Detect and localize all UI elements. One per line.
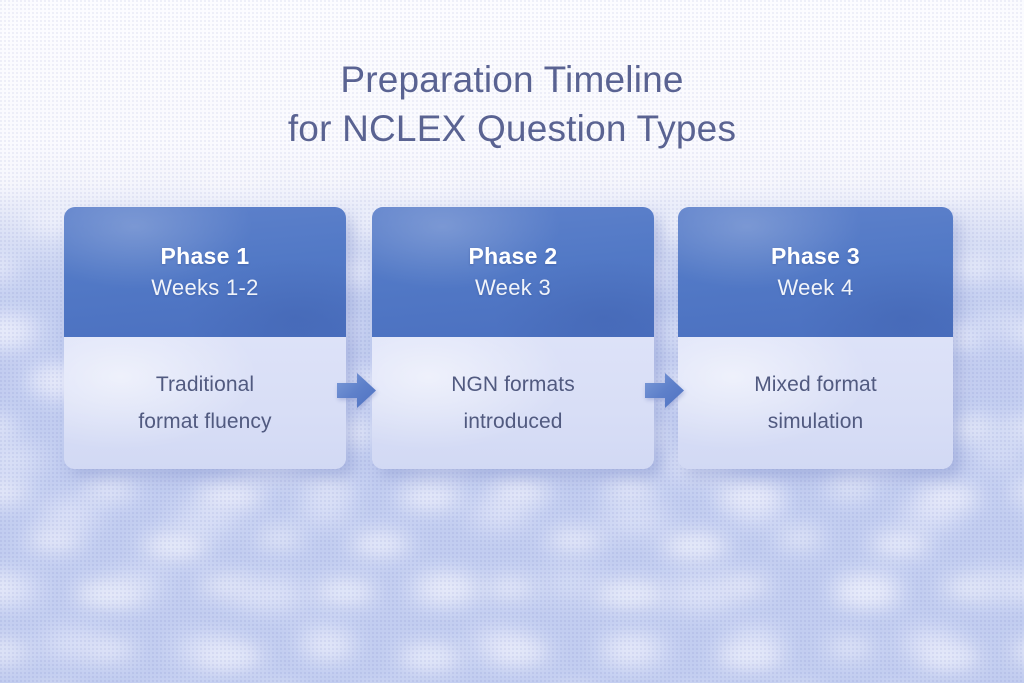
phase-card-2-desc-line-1: NGN formats (451, 371, 575, 399)
page-title: Preparation Timeline for NCLEX Question … (0, 55, 1024, 153)
phase-card-1[interactable]: Phase 1 Weeks 1-2 Traditional format flu… (64, 207, 346, 469)
phase-card-1-desc-line-1: Traditional (156, 371, 254, 399)
phase-card-2-phase-label: Phase 2 (468, 241, 557, 271)
phase-card-3-week-label: Week 4 (778, 273, 854, 303)
phase-card-3-header: Phase 3 Week 4 (678, 207, 953, 337)
phase-card-3-phase-label: Phase 3 (771, 241, 860, 271)
phase-card-1-desc-line-2: format fluency (138, 408, 271, 436)
phase-card-1-week-label: Weeks 1-2 (151, 273, 258, 303)
arrow-right-icon (337, 372, 376, 409)
phase-card-3-desc-line-2: simulation (768, 408, 864, 436)
phase-card-2-desc-line-2: introduced (463, 408, 562, 436)
phase-card-2-header: Phase 2 Week 3 (372, 207, 654, 337)
slide-canvas: Preparation Timeline for NCLEX Question … (0, 0, 1024, 683)
phase-card-2-week-label: Week 3 (475, 273, 551, 303)
phase-card-3[interactable]: Phase 3 Week 4 Mixed format simulation (678, 207, 953, 469)
phase-card-1-phase-label: Phase 1 (160, 241, 249, 271)
page-title-line-1: Preparation Timeline (0, 55, 1024, 104)
phase-card-2[interactable]: Phase 2 Week 3 NGN formats introduced (372, 207, 654, 469)
page-title-line-2: for NCLEX Question Types (0, 104, 1024, 153)
phase-card-1-body: Traditional format fluency (64, 337, 346, 469)
timeline-phase-row: Phase 1 Weeks 1-2 Traditional format flu… (64, 207, 953, 469)
arrow-right-icon (645, 372, 684, 409)
phase-card-1-header: Phase 1 Weeks 1-2 (64, 207, 346, 337)
phase-card-3-desc-line-1: Mixed format (754, 371, 877, 399)
phase-card-2-body: NGN formats introduced (372, 337, 654, 469)
phase-card-3-body: Mixed format simulation (678, 337, 953, 469)
